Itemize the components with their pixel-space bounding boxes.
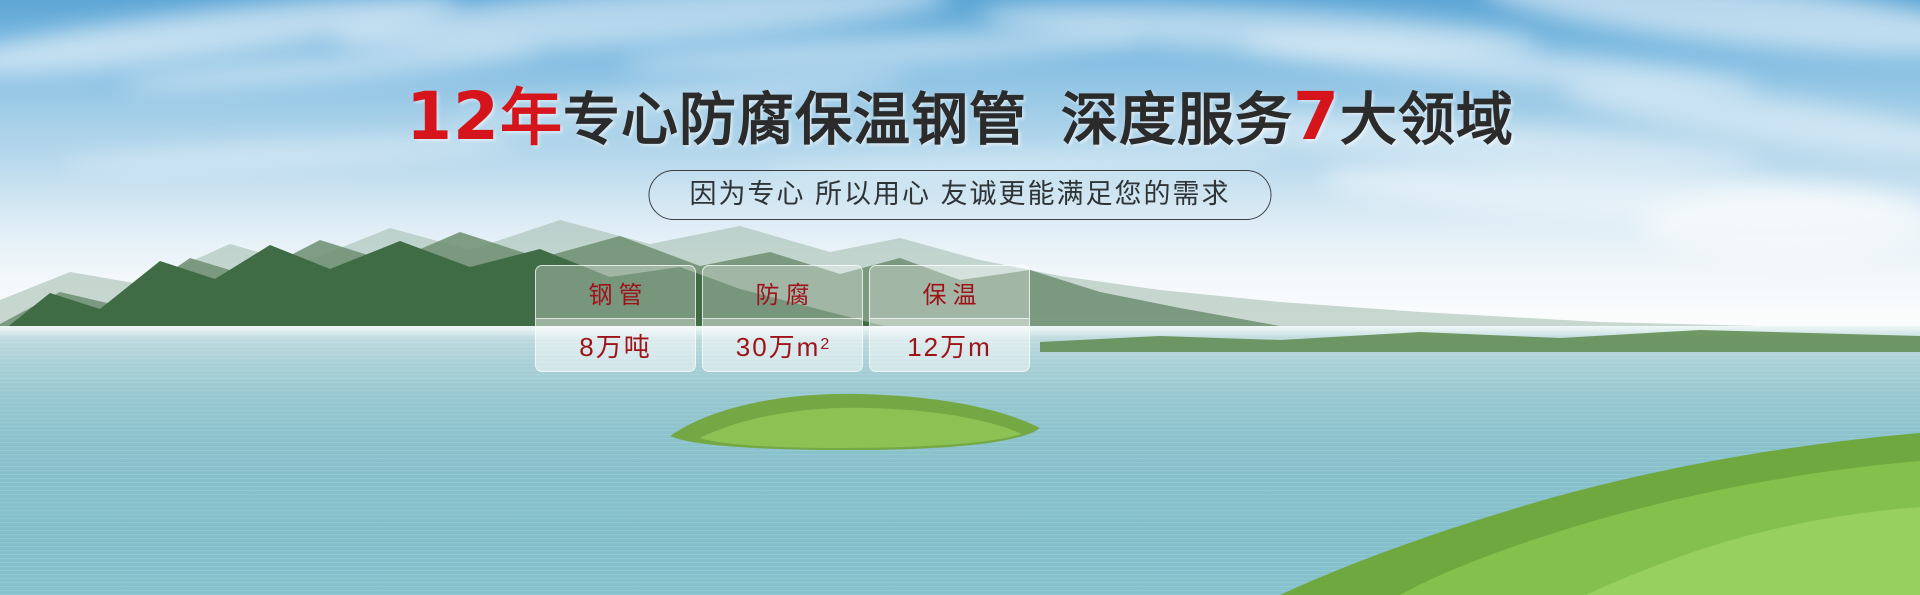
stat-card-steel-pipe[interactable]: 钢管 8万吨 (535, 265, 696, 372)
stat-card-insulation[interactable]: 保温 12万m (869, 265, 1030, 372)
stats-card-group: 钢管 8万吨 防腐 30万m2 保温 12万m (535, 265, 1030, 372)
stat-value-text: 8万吨 (579, 327, 651, 364)
grassland-right (1020, 415, 1920, 595)
stat-card-value: 30万m2 (703, 319, 862, 371)
headline-years-number: 12 (406, 78, 500, 155)
stat-value-text: 12万m (907, 327, 992, 364)
headline-years-unit: 年 (500, 84, 563, 153)
stat-card-value: 8万吨 (536, 319, 695, 371)
subtitle-pill: 因为专心 所以用心 友诚更能满足您的需求 (648, 170, 1271, 220)
stat-value-text: 30万m (736, 327, 821, 364)
hero-banner: 12年专心防腐保温钢管深度服务7大领域 因为专心 所以用心 友诚更能满足您的需求… (0, 0, 1920, 595)
headline-service-text: 深度服务 (1061, 88, 1293, 152)
grass-island (640, 378, 1060, 450)
page-title: 12年专心防腐保温钢管深度服务7大领域 (0, 84, 1920, 153)
stat-card-label: 防腐 (703, 266, 862, 319)
stat-card-label: 钢管 (536, 266, 695, 319)
headline-main-text: 专心防腐保温钢管 (563, 88, 1027, 152)
subtitle-text: 因为专心 所以用心 友诚更能满足您的需求 (689, 179, 1230, 209)
stat-value-superscript: 2 (820, 336, 829, 354)
far-grass-strip (1040, 316, 1920, 352)
stat-card-value: 12万m (870, 319, 1029, 371)
stat-card-label: 保温 (870, 266, 1029, 319)
headline-fields-number: 7 (1293, 78, 1340, 155)
headline-fields-text: 大领域 (1340, 88, 1514, 152)
stat-card-anticorrosion[interactable]: 防腐 30万m2 (702, 265, 863, 372)
